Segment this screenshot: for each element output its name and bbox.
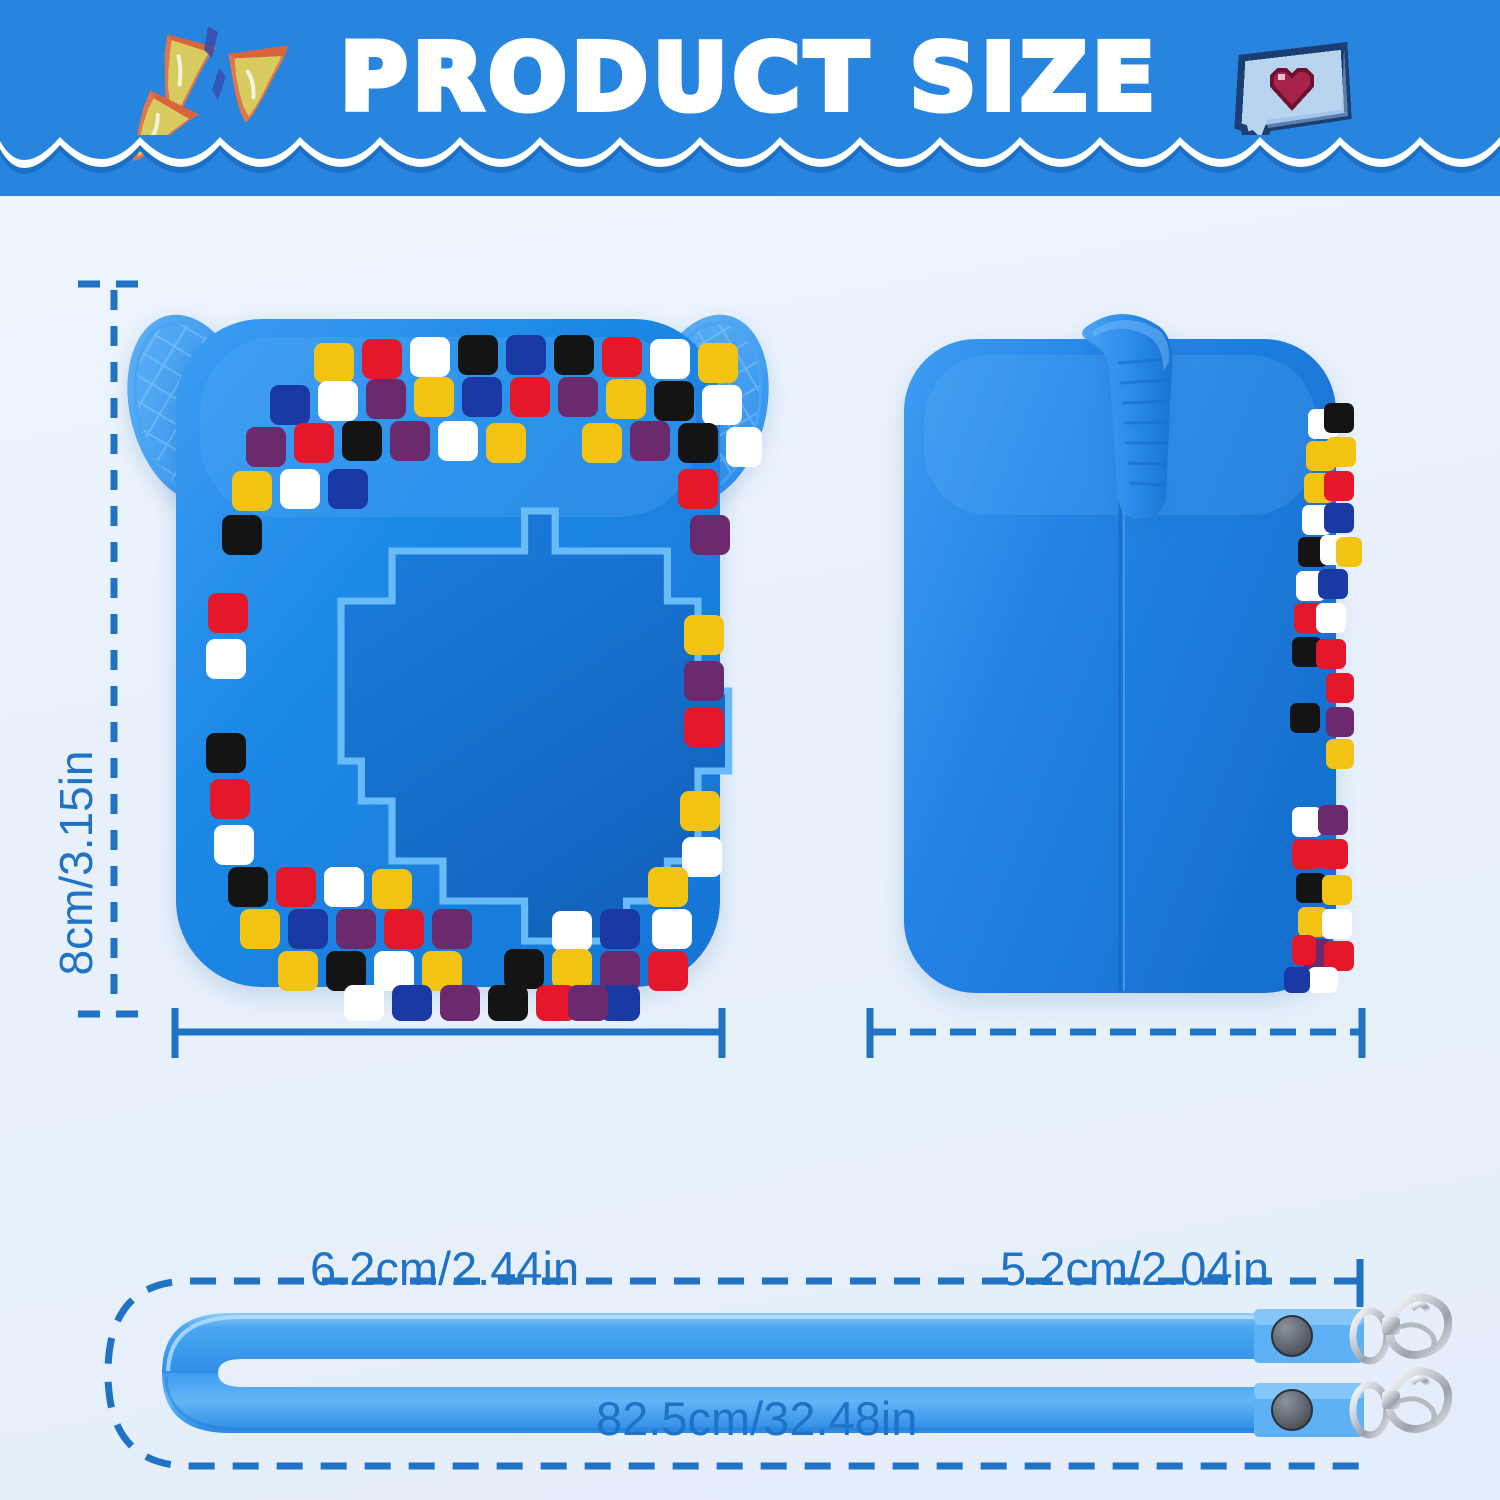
back-width-dimension-line — [870, 1008, 1362, 1058]
height-dimension-label: 8cm/3.15in — [49, 723, 103, 1003]
wave-scallop-divider — [0, 135, 1500, 197]
header-banner: PRODUCT SIZE — [0, 0, 1500, 196]
front-width-dimension-line — [175, 1008, 722, 1058]
back-width-dimension-label: 5.2cm/2.04in — [1000, 1241, 1269, 1296]
product-stage: 8cm/3.15in 6.2cm/2.44in 5.2cm/2.04in 82.… — [0, 196, 1500, 1500]
dimension-overlay — [0, 196, 1500, 1500]
lanyard-length-dimension-label: 82.5cm/32.48in — [596, 1391, 917, 1446]
front-width-dimension-label: 6.2cm/2.44in — [310, 1241, 579, 1296]
